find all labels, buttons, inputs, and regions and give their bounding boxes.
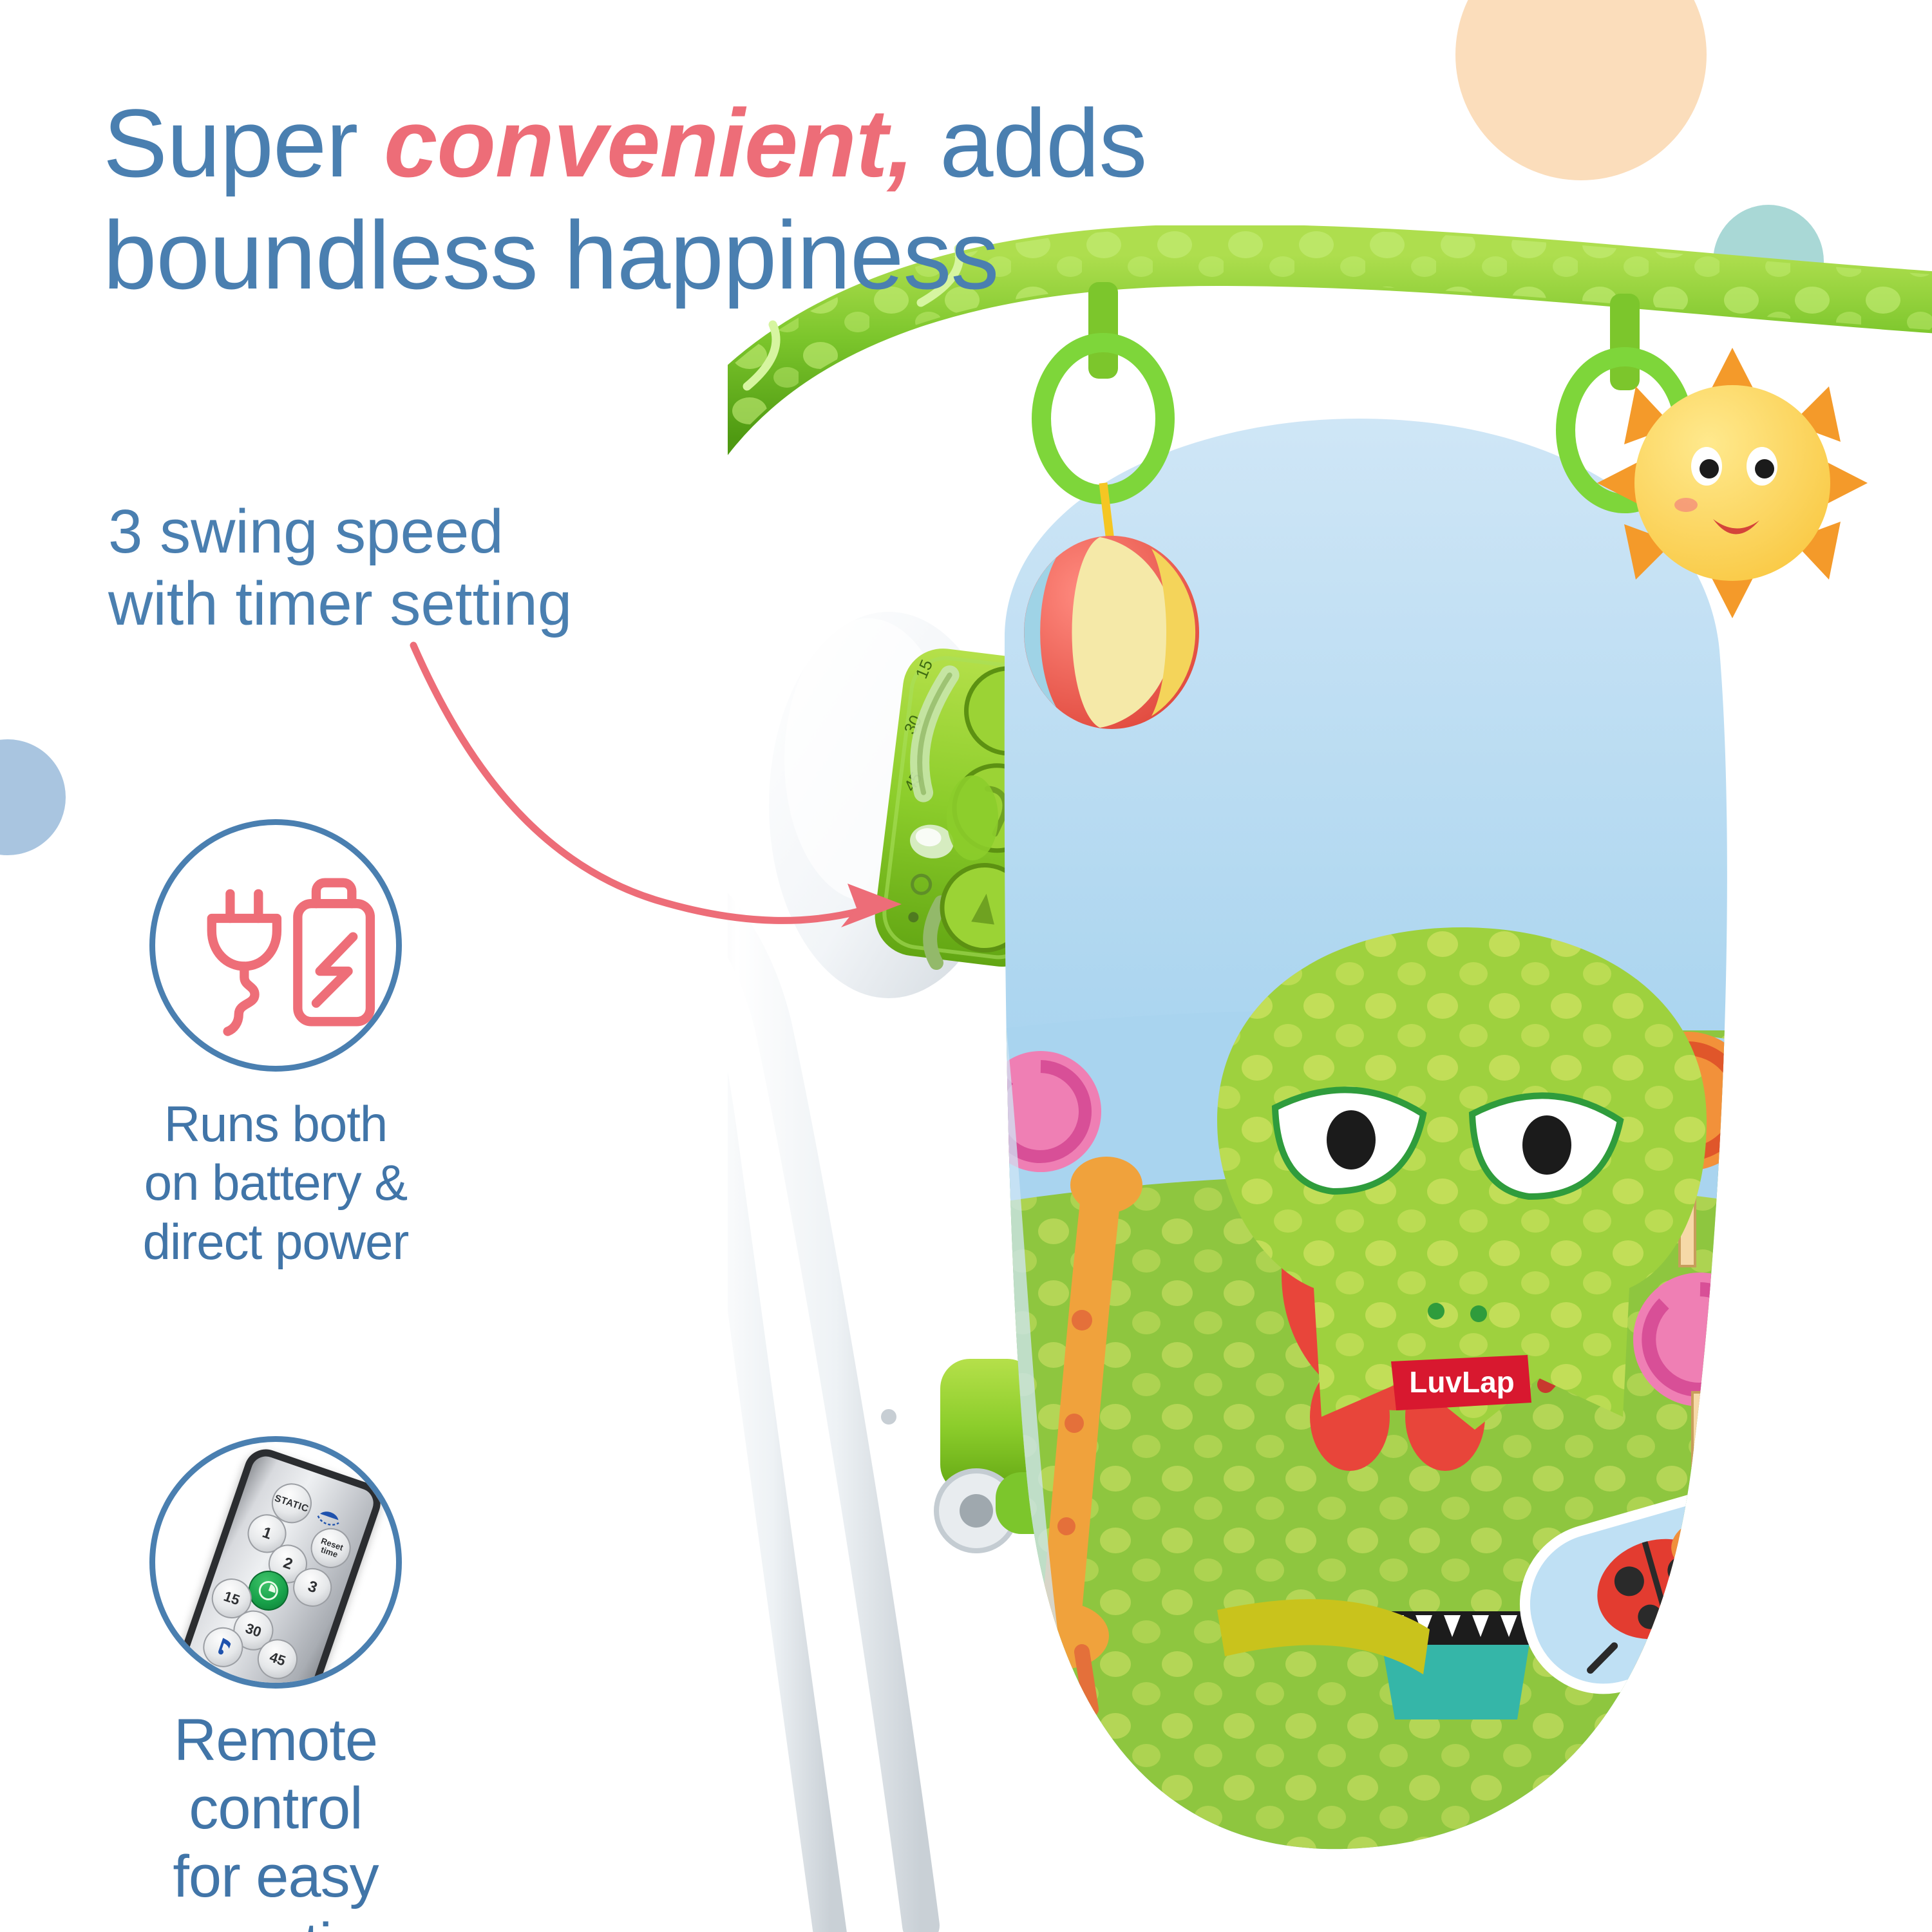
decor-circle-blue	[0, 739, 66, 855]
feature-remote-control: STATIC Reset time 1 2 3	[95, 1436, 456, 1932]
remote-control-icon: STATIC Reset time 1 2 3	[155, 1442, 396, 1683]
feature-remote-line2: for easy operation	[155, 1844, 397, 1932]
music-note-icon	[210, 1634, 236, 1660]
headline-part2: adds	[913, 89, 1146, 197]
power-plug-icon	[212, 894, 277, 1032]
feature-remote-line1: Remote control	[174, 1707, 377, 1841]
feature-power-line2: on battery &	[144, 1154, 408, 1211]
product-image-baby-swing: 15 30 45	[728, 225, 1932, 1932]
feature-power-text: Runs both on battery & direct power	[95, 1095, 456, 1271]
decor-circle-peach	[1455, 0, 1707, 180]
power-icons-group	[155, 825, 396, 1066]
headline-part1: Super	[103, 89, 384, 197]
pointer-arrow-icon	[386, 631, 927, 966]
feature-power-line3: direct power	[143, 1213, 409, 1270]
product-brand-label: LuvLap	[1409, 1365, 1515, 1399]
feature-power-line1: Runs both	[164, 1095, 388, 1152]
feature-remote-text: Remote control for easy operation	[95, 1707, 456, 1932]
remote-body: STATIC Reset time 1 2 3	[174, 1443, 386, 1689]
callout-swing-line1: 3 swing speed	[108, 497, 504, 566]
battery-bolt-icon	[298, 883, 370, 1022]
clock-icon	[254, 1576, 283, 1605]
page-headline: Super convenient, adds boundless happine…	[103, 87, 1397, 311]
feature-power-icon-circle	[149, 819, 402, 1072]
headline-emphasis: convenient,	[384, 89, 914, 197]
callout-swing-line2: with timer setting	[108, 569, 572, 638]
marketing-banner: 15 30 45	[0, 0, 1932, 1932]
callout-swing-speed: 3 swing speed with timer setting	[108, 496, 791, 641]
feature-remote-icon-circle: STATIC Reset time 1 2 3	[149, 1436, 402, 1689]
headline-line2: boundless happiness	[103, 201, 998, 309]
feature-power-source: Runs both on battery & direct power	[95, 819, 456, 1271]
remote-button-reset-time[interactable]: Reset time	[305, 1522, 356, 1573]
